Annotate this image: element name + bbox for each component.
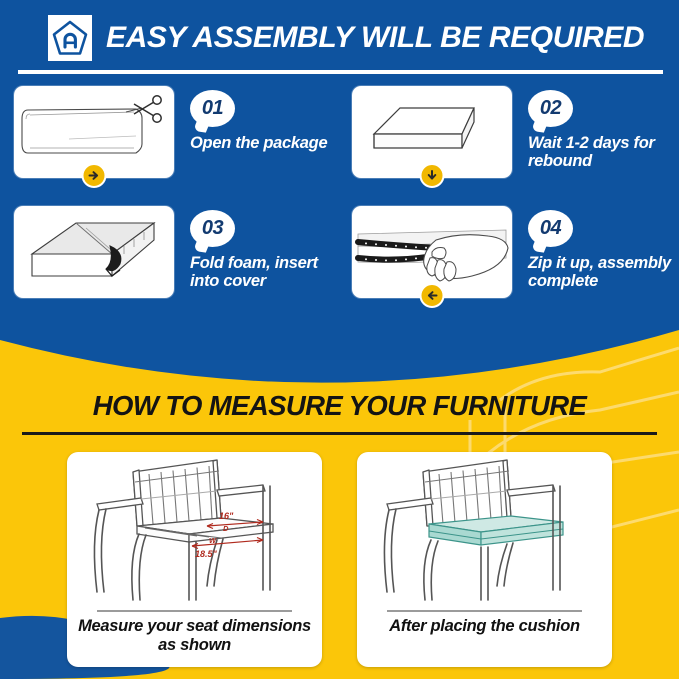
step-number-badge-01: 01 bbox=[190, 90, 235, 127]
step-card-04: 04 Zip it up, assembly complete bbox=[352, 206, 672, 298]
step-text-03: 03 Fold foam, insert into cover bbox=[190, 206, 344, 291]
steps-grid: 01 Open the package bbox=[0, 86, 679, 298]
measure-section: HOW TO MEASURE YOUR FURNITURE bbox=[0, 318, 679, 679]
step-label-02: Wait 1-2 days for rebound bbox=[528, 134, 672, 171]
header-divider bbox=[18, 70, 663, 74]
assembly-section: EASY ASSEMBLY WILL BE REQUIRED bbox=[0, 0, 679, 360]
step-number-badge-02: 02 bbox=[528, 90, 573, 127]
dimension-width-letter: W bbox=[209, 536, 217, 545]
measure-panel-cushion: After placing the cushion bbox=[357, 452, 612, 667]
step-label-01: Open the package bbox=[190, 134, 327, 152]
panel-caption-left: Measure your seat dimensions as shown bbox=[77, 617, 312, 656]
arrow-right-icon bbox=[82, 163, 107, 188]
foam-folded-into-cover-icon bbox=[14, 206, 174, 298]
step-card-01: 01 Open the package bbox=[14, 86, 344, 178]
assembly-header: EASY ASSEMBLY WILL BE REQUIRED bbox=[0, 8, 679, 68]
measure-divider bbox=[22, 432, 657, 435]
step-number-03: 03 bbox=[202, 217, 223, 240]
page-title: EASY ASSEMBLY WILL BE REQUIRED bbox=[106, 21, 644, 55]
steps-row-1: 01 Open the package bbox=[0, 86, 679, 178]
step-card-02: 02 Wait 1-2 days for rebound bbox=[352, 86, 672, 178]
step-label-03: Fold foam, insert into cover bbox=[190, 254, 344, 291]
step-card-03: 03 Fold foam, insert into cover bbox=[14, 206, 344, 298]
arrow-left-icon bbox=[420, 283, 445, 308]
step-text-04: 04 Zip it up, assembly complete bbox=[528, 206, 672, 291]
step-number-badge-03: 03 bbox=[190, 210, 235, 247]
arrow-down-icon bbox=[420, 163, 445, 188]
infographic-canvas: EASY ASSEMBLY WILL BE REQUIRED bbox=[0, 0, 679, 679]
step-number-02: 02 bbox=[540, 97, 561, 120]
panel-separator-left bbox=[97, 610, 292, 612]
measure-panels: 16" D W 18.5" Measure your seat dimensio… bbox=[0, 452, 679, 667]
steps-row-2: 03 Fold foam, insert into cover bbox=[0, 206, 679, 298]
panel-caption-right: After placing the cushion bbox=[367, 617, 602, 636]
house-pentagon-logo-icon bbox=[48, 15, 92, 61]
chair-with-dimension-callouts-icon: 16" D W 18.5" bbox=[67, 452, 322, 607]
panel-separator-right bbox=[387, 610, 582, 612]
chair-with-teal-cushion-icon bbox=[357, 452, 612, 607]
measure-title: HOW TO MEASURE YOUR FURNITURE bbox=[0, 390, 679, 422]
step-number-badge-04: 04 bbox=[528, 210, 573, 247]
step-number-01: 01 bbox=[202, 97, 223, 120]
step-text-02: 02 Wait 1-2 days for rebound bbox=[528, 86, 672, 171]
step-text-01: 01 Open the package bbox=[190, 86, 327, 152]
dimension-depth-letter: D bbox=[223, 524, 229, 533]
package-bag-with-scissors-icon bbox=[14, 86, 174, 178]
foam-slab-3d-icon bbox=[352, 86, 512, 178]
step-label-04: Zip it up, assembly complete bbox=[528, 254, 672, 291]
dimension-depth-value: 16" bbox=[219, 511, 234, 521]
dimension-width-value: 18.5" bbox=[195, 549, 218, 559]
measure-panel-dimensions: 16" D W 18.5" Measure your seat dimensio… bbox=[67, 452, 322, 667]
step-number-04: 04 bbox=[540, 217, 561, 240]
hand-closing-zipper-icon bbox=[352, 206, 512, 298]
